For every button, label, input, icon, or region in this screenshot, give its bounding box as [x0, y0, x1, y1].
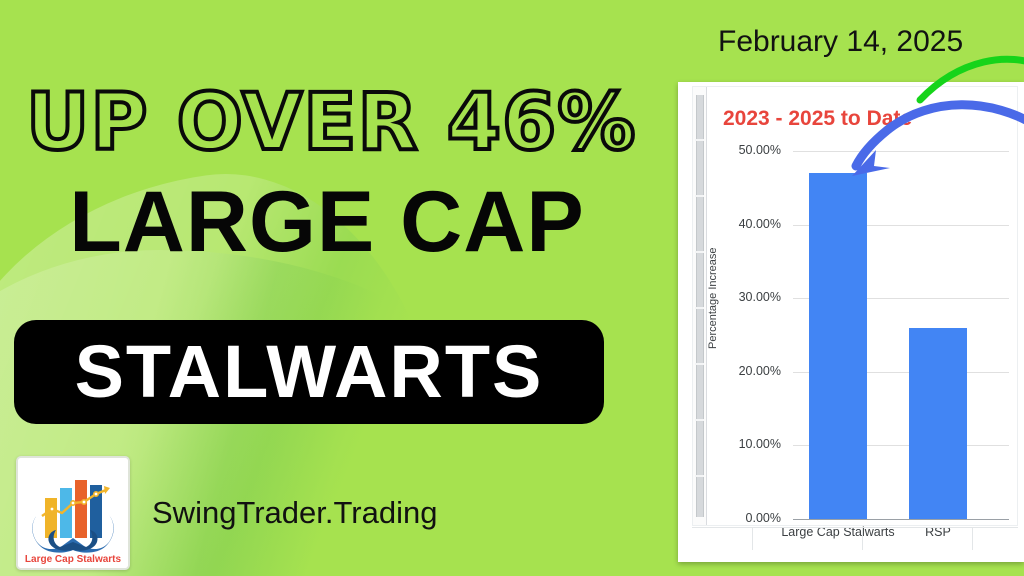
y-tick-label-0: 0.00% [721, 511, 781, 525]
chart-screenshot-panel: 2023 - 2025 to Date Percentage Increase … [678, 82, 1024, 562]
logo-bar-yellow [45, 498, 57, 538]
website-url: SwingTrader.Trading [152, 495, 437, 531]
spreadsheet-cell-row [692, 527, 1018, 550]
headline-badge-label: STALWARTS [75, 335, 544, 409]
logo-caption: Large Cap Stalwarts [25, 554, 122, 565]
headline-badge: STALWARTS [14, 320, 604, 424]
headline-subhead: LARGE CAP [22, 178, 632, 266]
chart-x-axis [793, 519, 1009, 520]
headline-kicker: UP OVER 46% [26, 84, 636, 162]
date-stamp: February 14, 2025 [718, 25, 963, 59]
logo-artwork: Large Cap Stalwarts [18, 458, 128, 568]
large-cap-stalwarts-logo: Large Cap Stalwarts [16, 456, 130, 570]
bar-rsp[interactable] [909, 328, 967, 519]
bar-large-cap-stalwarts[interactable] [809, 173, 867, 519]
y-tick-label-30: 30.00% [721, 290, 781, 304]
gridline-50 [793, 151, 1009, 152]
y-tick-label-10: 10.00% [721, 437, 781, 451]
y-tick-label-50: 50.00% [721, 143, 781, 157]
thumbnail-canvas: UP OVER 46% LARGE CAP STALWARTS [0, 0, 1024, 576]
logo-bar-orange [75, 480, 87, 538]
chart-area: 2023 - 2025 to Date Percentage Increase … [692, 86, 1018, 526]
chart-plot: Percentage Increase 50.00% 40.00% 30.00%… [693, 87, 1017, 525]
y-tick-label-20: 20.00% [721, 364, 781, 378]
chart-y-axis-label: Percentage Increase [707, 247, 719, 349]
y-tick-label-40: 40.00% [721, 217, 781, 231]
